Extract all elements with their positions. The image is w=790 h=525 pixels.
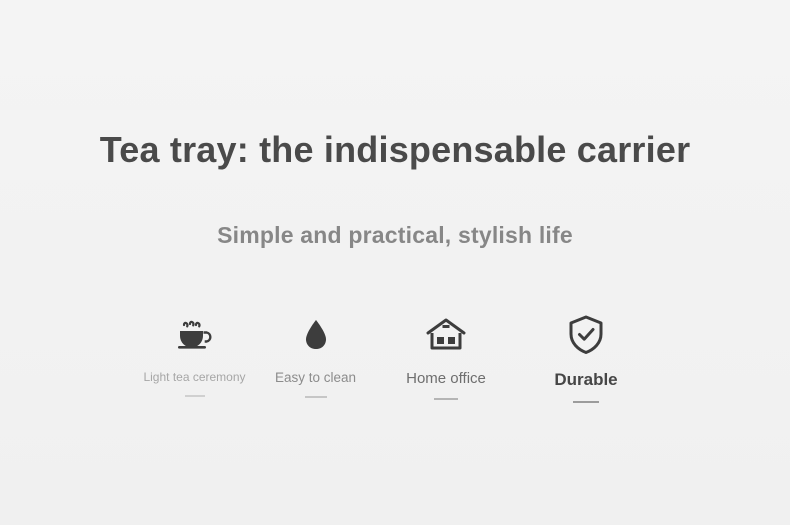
page-subtitle: Simple and practical, stylish life xyxy=(0,222,790,249)
shield-check-icon xyxy=(568,312,604,358)
page-title: Tea tray: the indispensable carrier xyxy=(0,128,790,171)
feature-list: Light tea ceremony Easy to clean xyxy=(0,312,790,403)
feature-label: Easy to clean xyxy=(275,370,356,385)
feature-item-easy-to-clean: Easy to clean xyxy=(255,312,376,398)
house-icon xyxy=(425,312,467,358)
feature-underline xyxy=(185,395,205,397)
tea-cup-icon xyxy=(175,312,215,358)
promo-banner: Tea tray: the indispensable carrier Simp… xyxy=(0,0,790,525)
feature-label: Light tea ceremony xyxy=(143,370,245,384)
feature-underline xyxy=(573,401,599,403)
feature-item-light-tea-ceremony: Light tea ceremony xyxy=(134,312,255,397)
feature-underline xyxy=(305,396,327,398)
water-drop-icon xyxy=(301,312,331,358)
feature-item-durable: Durable xyxy=(516,312,656,403)
feature-underline xyxy=(434,398,458,400)
feature-label: Home office xyxy=(406,370,486,387)
feature-item-home-office: Home office xyxy=(376,312,516,400)
feature-label: Durable xyxy=(554,370,617,390)
